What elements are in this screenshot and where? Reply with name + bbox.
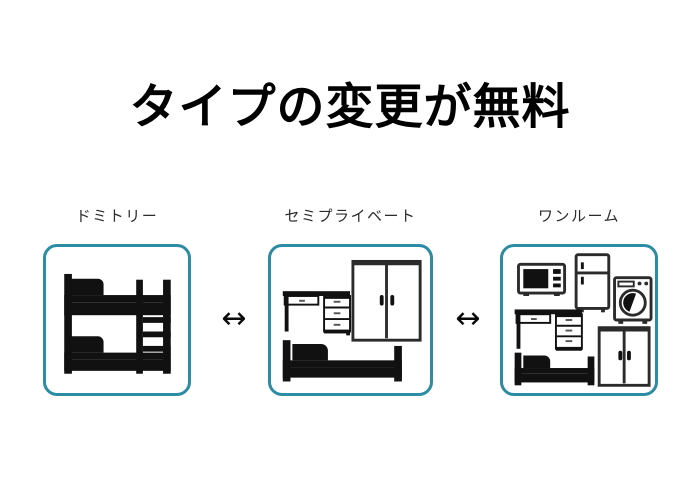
- room-type-label-one-room: ワンルーム: [500, 205, 658, 226]
- slide-canvas: タイプの変更が無料 ドミトリー セミプライベート ワンルーム: [0, 0, 700, 500]
- desk-icon: [515, 309, 582, 350]
- room-type-label-dormitory: ドミトリー: [43, 205, 191, 226]
- page-title: タイプの変更が無料: [0, 82, 700, 135]
- connector-arrow-2: ↔: [438, 302, 498, 336]
- wardrobe-icon: [353, 261, 420, 340]
- microwave-icon: [518, 264, 564, 296]
- connector-arrow-1: ↔: [204, 302, 264, 336]
- desk-icon: [283, 291, 350, 335]
- room-type-card-dormitory[interactable]: [43, 244, 191, 396]
- wardrobe-icon: [599, 328, 649, 386]
- refrigerator-icon: [576, 255, 609, 313]
- room-type-label-semi-private: セミプライベート: [268, 205, 433, 226]
- single-bed-icon: [515, 353, 595, 386]
- bunk-bed-icon: [46, 247, 188, 393]
- semi-private-furniture-group: [271, 247, 430, 393]
- washing-machine-icon: [615, 278, 652, 324]
- room-type-card-one-room[interactable]: [500, 244, 658, 396]
- room-type-card-semi-private[interactable]: [268, 244, 433, 396]
- single-bed-icon: [283, 340, 402, 381]
- one-room-furniture-group: [503, 247, 655, 393]
